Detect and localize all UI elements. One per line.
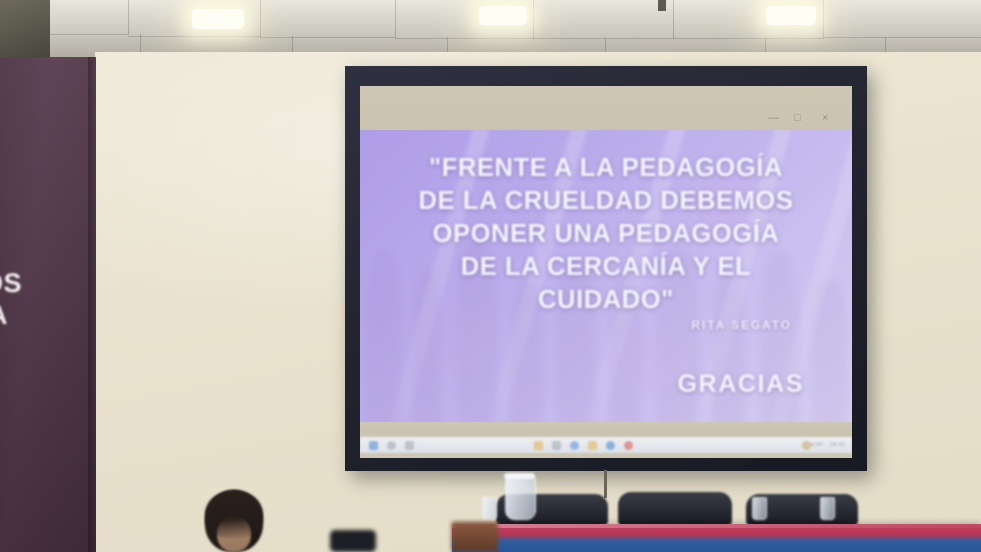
window-minimize-icon[interactable]: — bbox=[768, 112, 779, 124]
table-side-object bbox=[452, 522, 498, 552]
ceiling-soffit bbox=[0, 0, 50, 60]
start-icon[interactable] bbox=[369, 441, 378, 450]
water-glass-center bbox=[752, 497, 767, 520]
slide-quote: "FRENTE A LA PEDAGOGÍA DE LA CRUELDAD DE… bbox=[374, 152, 838, 317]
tray-app-icon[interactable] bbox=[802, 441, 811, 450]
foreground-dark-object bbox=[330, 530, 376, 552]
chair-center bbox=[618, 492, 732, 526]
chrome-icon[interactable] bbox=[570, 441, 579, 450]
task-view-icon[interactable] bbox=[405, 441, 414, 450]
pitcher-lid bbox=[504, 473, 535, 479]
edge-icon[interactable] bbox=[606, 441, 615, 450]
window-close-icon[interactable]: × bbox=[822, 112, 828, 124]
projected-slide[interactable]: — □ × bbox=[360, 86, 852, 458]
ceiling-light-3 bbox=[766, 6, 816, 25]
banner-text-line-2: A bbox=[0, 300, 8, 331]
ceiling-light-1 bbox=[192, 9, 244, 29]
quote-line-3: OPONER UNA PEDAGOGÍA bbox=[374, 218, 838, 251]
lecture-hall-photo: OS A — □ × bbox=[0, 0, 981, 552]
water-glass-right bbox=[820, 497, 835, 520]
window-restore-icon[interactable]: □ bbox=[794, 112, 801, 124]
quote-line-5: CUIDADO" bbox=[374, 284, 838, 317]
attendee-hair-front bbox=[205, 490, 263, 538]
slide-canvas: "FRENTE A LA PEDAGOGÍA DE LA CRUELDAD DE… bbox=[360, 130, 852, 422]
tray-language-label[interactable]: ESP bbox=[811, 442, 824, 448]
search-icon[interactable] bbox=[387, 441, 396, 450]
slide-attribution: RITA SEGATO bbox=[692, 320, 792, 332]
windows-taskbar[interactable]: ESP 16:41 bbox=[360, 437, 852, 453]
quote-line-2: DE LA CRUELDAD DEBEMOS bbox=[374, 185, 838, 218]
mail-icon[interactable] bbox=[552, 441, 561, 450]
quote-line-1: "FRENTE A LA PEDAGOGÍA bbox=[374, 152, 838, 185]
slide-closing-text: GRACIAS bbox=[678, 370, 804, 399]
table-edge-highlight bbox=[452, 524, 981, 528]
screen-cable bbox=[604, 470, 607, 498]
presenters-table bbox=[452, 524, 981, 552]
quote-line-4: DE LA CERCANÍA Y EL bbox=[374, 251, 838, 284]
ceiling-light-2 bbox=[479, 6, 527, 25]
office-icon[interactable] bbox=[624, 441, 633, 450]
banner-text-line-1: OS bbox=[0, 268, 22, 299]
water-pitcher bbox=[505, 475, 536, 520]
left-wall-banner bbox=[0, 57, 96, 552]
banner-edge-shadow bbox=[88, 57, 96, 552]
taskbar-clock[interactable]: 16:41 bbox=[829, 442, 846, 448]
store-icon[interactable] bbox=[588, 441, 597, 450]
water-glass-left bbox=[482, 497, 497, 520]
folder-icon[interactable] bbox=[534, 441, 543, 450]
